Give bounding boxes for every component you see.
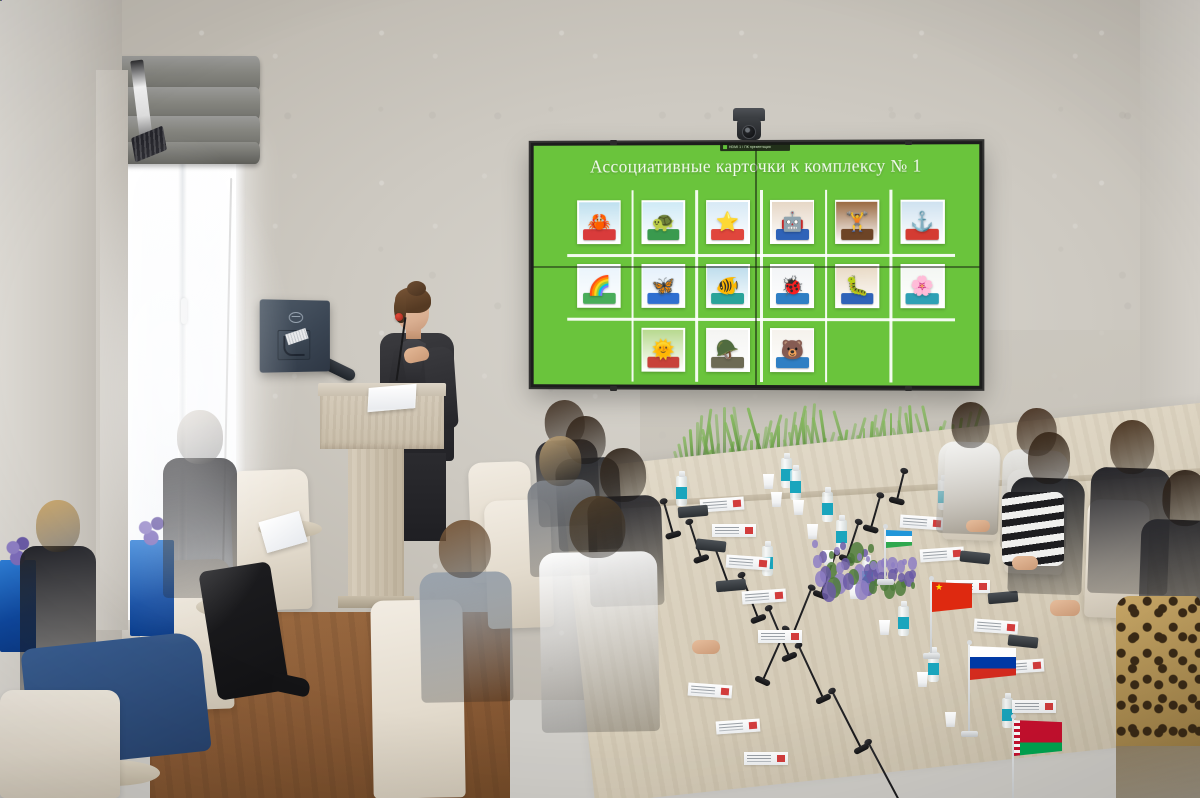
- attendee-hands: [966, 520, 990, 532]
- bear-card[interactable]: 🐻: [770, 328, 814, 372]
- flag-pole: [884, 528, 886, 580]
- bottle-label: [928, 663, 939, 675]
- card-row: 🌞🪖🐻: [567, 318, 955, 383]
- flag-base: [923, 653, 940, 659]
- person-head: [1027, 431, 1071, 484]
- card-artwork: 🌞: [643, 329, 684, 370]
- card-artwork: ⚓: [902, 201, 943, 242]
- attendee-gray-sweater: [418, 519, 513, 709]
- water-bottle[interactable]: [676, 476, 687, 506]
- sun-swing-card[interactable]: 🌞: [641, 328, 685, 372]
- confidence-monitor[interactable]: [260, 299, 330, 372]
- person-head: [951, 401, 991, 448]
- ptz-camera-lens: [742, 125, 756, 139]
- china-flag: ★: [930, 580, 970, 654]
- attendee-hands: [1050, 600, 1080, 616]
- document-accent-mark: [1033, 662, 1041, 670]
- printed-handout[interactable]: [1012, 700, 1056, 713]
- bottle-label: [790, 481, 801, 493]
- person-head: [569, 496, 626, 559]
- document-text-line: [729, 558, 753, 561]
- card-glyph: 🌈: [587, 276, 610, 295]
- panel-seam-horizontal: [534, 266, 980, 268]
- document-text-line: [923, 551, 947, 554]
- document-accent-mark: [733, 500, 741, 508]
- card-artwork: 🏋: [837, 201, 878, 242]
- flag-cloth: [886, 530, 912, 548]
- lavender-floret: [866, 556, 870, 562]
- turtle-beach-card[interactable]: 🐢: [641, 200, 685, 244]
- flag-base: [877, 579, 894, 585]
- card-cell: [825, 318, 890, 382]
- document-accent-mark: [1007, 624, 1015, 632]
- videowall-mount-clip: [905, 140, 912, 145]
- lavender-floret: [868, 544, 874, 552]
- card-artwork: 🐢: [643, 202, 684, 243]
- attendee-leopard-top: [1116, 596, 1200, 746]
- flag-base: [961, 731, 978, 737]
- lavender-floret: [836, 562, 844, 574]
- card-cell: ⚓: [890, 190, 955, 254]
- roman-blind[interactable]: [114, 56, 260, 164]
- document-text-line: [703, 501, 727, 504]
- lavender-floret: [829, 551, 835, 559]
- card-glyph: 🐠: [716, 276, 740, 295]
- person-head: [1161, 469, 1200, 527]
- flag-cloth: ★: [932, 582, 972, 612]
- card-cell: 🐛: [825, 254, 890, 318]
- left-wall-pillar: [96, 70, 128, 630]
- document-accent-mark: [775, 592, 783, 600]
- lavender-floret: [870, 561, 876, 571]
- osd-status-dot: [723, 145, 727, 149]
- card-cell: 🦀: [567, 190, 631, 254]
- associative-cards-grid: 🦀🐢⭐🤖🏋⚓🌈🦋🐠🐞🐛🌸🌞🪖🐻: [567, 190, 955, 383]
- document-accent-mark: [777, 755, 785, 762]
- presenter-hair-bun: [407, 281, 426, 296]
- card-artwork: 🌈: [579, 265, 620, 306]
- card-artwork: 🦋: [643, 265, 684, 306]
- card-cell: 🐞: [760, 254, 825, 318]
- fish-card[interactable]: 🐠: [706, 264, 750, 308]
- bottle-label: [898, 617, 909, 629]
- flag-ornament: [1014, 720, 1020, 756]
- attendee-hands: [1012, 556, 1038, 570]
- card-glyph: 🌸: [910, 277, 934, 296]
- lavender-floret: [840, 542, 846, 550]
- card-artwork: 🤖: [772, 201, 813, 242]
- person-head: [438, 520, 491, 579]
- panel-seam-vertical: [755, 145, 757, 385]
- bottle-label: [676, 487, 687, 499]
- person-torso: [419, 571, 513, 703]
- document-text-line: [761, 633, 785, 634]
- person-head: [538, 435, 582, 486]
- water-bottle[interactable]: [898, 606, 909, 636]
- lavender-floret: [812, 540, 818, 548]
- card-artwork: 🌸: [902, 266, 943, 307]
- document-accent-mark: [759, 560, 767, 568]
- crab-card[interactable]: 🦀: [577, 200, 621, 244]
- attendee-hands: [692, 640, 720, 654]
- card-glyph: 🦋: [652, 276, 676, 295]
- card-glyph: 🐻: [780, 341, 804, 360]
- card-artwork: 🐞: [772, 266, 813, 307]
- document-text-line: [719, 723, 743, 726]
- flag-pole: [930, 580, 932, 654]
- belarus-flag: [1012, 718, 1060, 798]
- starfish-beach-card[interactable]: ⭐: [706, 200, 750, 244]
- flag-pole: [1012, 718, 1014, 798]
- card-cell: 🐠: [695, 254, 759, 318]
- card-artwork: 🐛: [837, 266, 878, 307]
- podium-microphone-windscreen: [395, 313, 403, 321]
- lectern-column: [348, 447, 404, 602]
- card-glyph: 🐞: [780, 277, 804, 296]
- person-head: [177, 410, 223, 464]
- soldier-card[interactable]: 🪖: [706, 328, 750, 372]
- videowall-mount-clip: [610, 140, 617, 145]
- card-artwork: ⭐: [707, 202, 748, 243]
- lavender-floret: [834, 547, 840, 555]
- card-artwork: 🐻: [772, 330, 813, 371]
- card-cell: 🌈: [567, 254, 631, 318]
- butterfly-card[interactable]: 🦋: [641, 264, 685, 308]
- lavender-floret: [884, 583, 895, 599]
- document-text-line: [745, 593, 769, 596]
- water-bottle[interactable]: [822, 492, 833, 522]
- printed-handout[interactable]: [744, 752, 788, 765]
- bottle-label: [822, 503, 833, 515]
- person-torso: [539, 551, 660, 733]
- ladybug-card[interactable]: 🐞: [770, 264, 814, 308]
- card-glyph: 🏋: [845, 212, 869, 231]
- card-glyph: ⚓: [910, 212, 934, 231]
- document-text-line: [977, 622, 1001, 625]
- flag-cloth: [970, 646, 1016, 680]
- card-glyph: 🌞: [652, 340, 676, 359]
- document-accent-mark: [979, 583, 987, 590]
- card-glyph: 🐢: [652, 213, 676, 232]
- person-head: [1109, 419, 1155, 475]
- card-glyph: 🦀: [587, 213, 610, 232]
- caterpillar-card[interactable]: 🐛: [835, 264, 879, 308]
- document-text-line: [1015, 703, 1039, 704]
- document-text-line: [747, 755, 771, 756]
- card-cell: 🤖: [760, 190, 825, 254]
- lavender-floret: [813, 555, 821, 567]
- conference-chair[interactable]: [0, 690, 120, 798]
- card-glyph: ⭐: [716, 213, 740, 232]
- water-bottle[interactable]: [790, 470, 801, 500]
- ptz-camera-icon: [729, 108, 769, 146]
- card-glyph: 🪖: [716, 340, 740, 359]
- document-text-line: [903, 518, 927, 521]
- card-cell: 🦋: [631, 254, 695, 318]
- attendee-striped-top: [1002, 492, 1064, 566]
- card-row: 🌈🦋🐠🐞🐛🌸: [567, 254, 955, 318]
- flag-cloth: [1014, 720, 1062, 756]
- videowall-mount-clip: [905, 386, 912, 391]
- card-cell: ⭐: [695, 190, 759, 254]
- card-cell: [890, 318, 955, 382]
- card-cell: 🌞: [631, 318, 695, 382]
- video-wall-screen: Ассоциативные карточки к комплексу № 1 🦀…: [534, 144, 980, 386]
- card-row: 🦀🐢⭐🤖🏋⚓: [567, 190, 955, 255]
- lavender-floret: [822, 582, 836, 603]
- card-artwork: 🪖: [707, 329, 748, 370]
- person-head: [36, 500, 80, 552]
- lavender-floret: [911, 582, 915, 588]
- document-accent-mark: [791, 633, 799, 640]
- document-text-line: [691, 686, 715, 689]
- document-text-line: [715, 527, 739, 528]
- sailor-card[interactable]: ⚓: [900, 200, 944, 244]
- card-glyph: 🐛: [845, 277, 869, 296]
- rainbow-child-card[interactable]: 🌈: [577, 264, 621, 308]
- card-cell: 🏋: [825, 190, 890, 254]
- russia-flag: [968, 644, 1014, 732]
- document-accent-mark: [749, 722, 757, 730]
- uzbekistan-flag: [884, 528, 910, 580]
- card-artwork: 🐠: [707, 265, 748, 306]
- document-accent-mark: [1045, 703, 1053, 710]
- video-wall-display[interactable]: Ассоциативные карточки к комплексу № 1 🦀…: [531, 141, 983, 389]
- card-cell: 🐻: [760, 318, 825, 382]
- window-handle[interactable]: [181, 298, 187, 324]
- card-cell: [567, 318, 631, 382]
- lavender-floret: [843, 573, 854, 590]
- card-cell: 🐢: [631, 190, 695, 254]
- trainer-card[interactable]: 🏋: [835, 200, 879, 244]
- conference-room-scene: Ассоциативные карточки к комплексу № 1 🦀…: [0, 0, 1200, 798]
- document-accent-mark: [721, 688, 729, 696]
- document-accent-mark: [745, 527, 753, 534]
- flowers-card[interactable]: 🌸: [900, 264, 944, 308]
- flag-pole: [968, 644, 970, 732]
- card-glyph: 🤖: [780, 212, 804, 231]
- presentation-notes[interactable]: [367, 384, 416, 412]
- videowall-mount-clip: [610, 386, 617, 391]
- flag-star: ★: [935, 583, 943, 592]
- card-cell: 🌸: [890, 254, 955, 318]
- attendee-white-shirt: [538, 495, 660, 739]
- printed-handout[interactable]: [712, 524, 756, 537]
- card-artwork: 🦀: [579, 202, 620, 243]
- card-cell: 🪖: [695, 318, 759, 382]
- robot-gym-card[interactable]: 🤖: [770, 200, 814, 244]
- printed-handout[interactable]: [758, 630, 802, 643]
